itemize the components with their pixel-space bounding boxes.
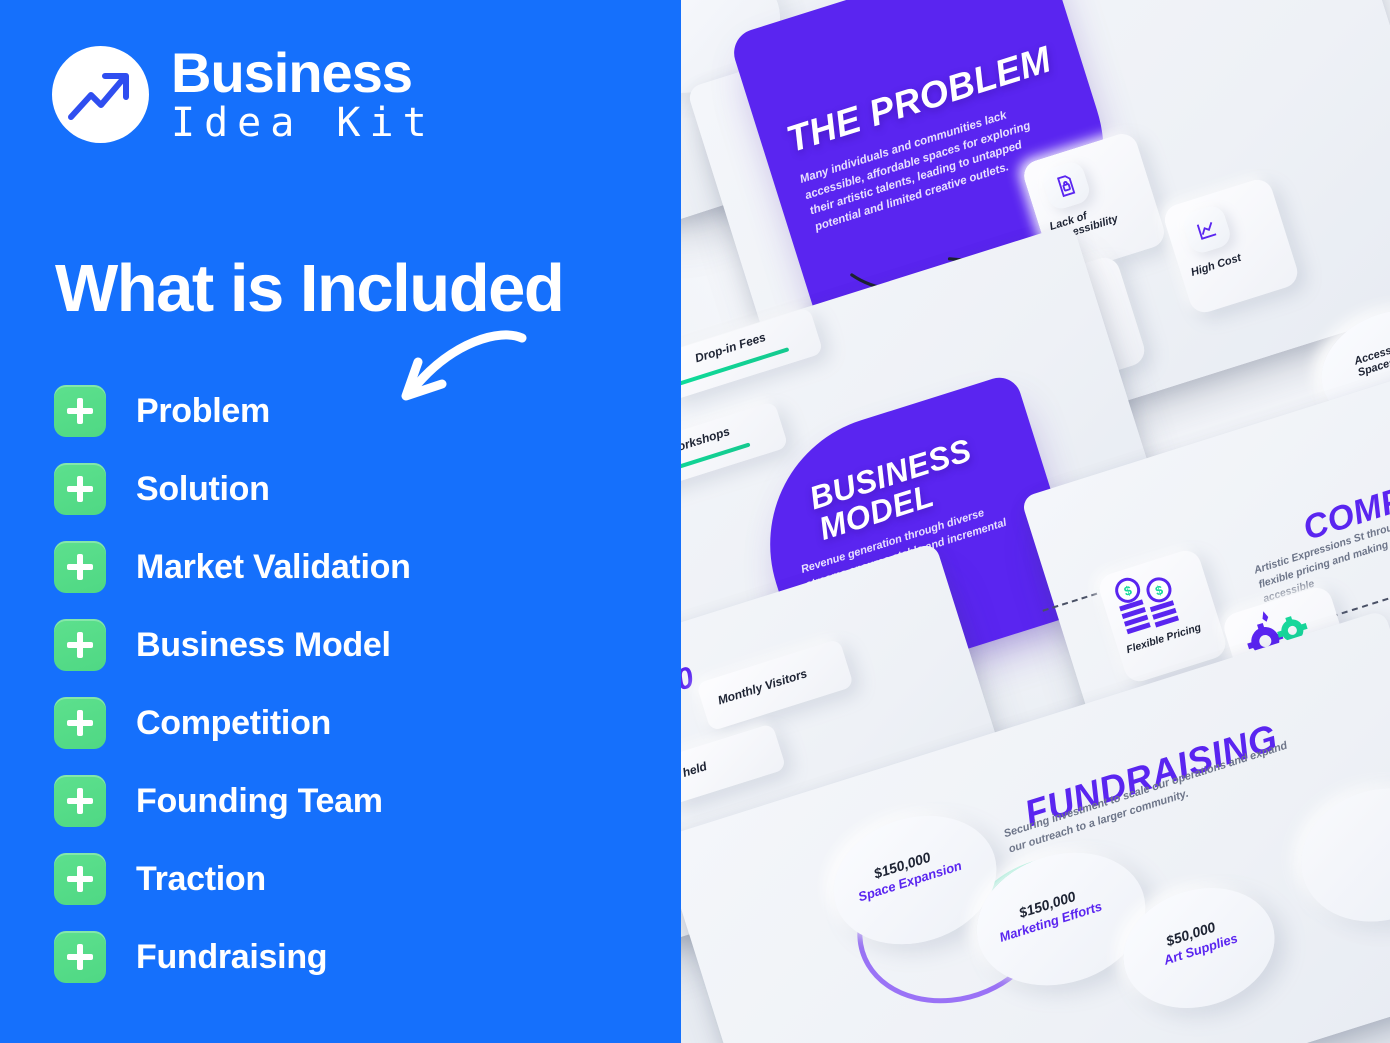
included-items-list: Problem Solution Market Validation Busin… bbox=[54, 385, 411, 983]
screenshot-root: THE PROBLEM Many individuals and communi… bbox=[0, 0, 1390, 1043]
list-item[interactable]: Market Validation bbox=[54, 541, 411, 593]
list-item-label: Founding Team bbox=[136, 782, 383, 821]
list-item[interactable]: Traction bbox=[54, 853, 411, 905]
plus-icon bbox=[54, 697, 106, 749]
list-item-label: Solution bbox=[136, 470, 270, 509]
list-item-label: Competition bbox=[136, 704, 331, 743]
list-item[interactable]: Problem bbox=[54, 385, 411, 437]
document-lock-icon bbox=[1040, 159, 1093, 212]
brand-name-line2: Idea Kit bbox=[171, 101, 436, 145]
list-item[interactable]: Business Model bbox=[54, 619, 411, 671]
list-item[interactable]: Competition bbox=[54, 697, 411, 749]
plus-icon bbox=[54, 463, 106, 515]
traction-card-1-label: held bbox=[681, 759, 709, 780]
page-title: What is Included bbox=[55, 250, 563, 327]
plus-icon bbox=[54, 853, 106, 905]
problem-bubble-label: Accessible Spaces bbox=[1353, 335, 1390, 379]
list-item[interactable]: Founding Team bbox=[54, 775, 411, 827]
list-item-label: Fundraising bbox=[136, 938, 327, 977]
growth-chart-arrow-icon bbox=[52, 46, 149, 143]
plus-icon bbox=[54, 619, 106, 671]
coins-stack-icon: $ $ bbox=[1109, 563, 1187, 638]
plus-icon bbox=[54, 775, 106, 827]
list-item-label: Market Validation bbox=[136, 548, 411, 587]
list-item-label: Problem bbox=[136, 392, 270, 431]
list-item[interactable]: Fundraising bbox=[54, 931, 411, 983]
brand-name-line1: Business bbox=[171, 44, 436, 101]
plus-icon bbox=[54, 385, 106, 437]
line-chart-icon bbox=[1181, 203, 1234, 256]
list-item-label: Traction bbox=[136, 860, 266, 899]
brand-logo[interactable]: Business Idea Kit bbox=[52, 44, 436, 145]
plus-icon bbox=[54, 931, 106, 983]
traction-card-0-label: Monthly Visitors bbox=[716, 666, 809, 707]
left-blue-panel: Business Idea Kit What is Included Probl… bbox=[0, 0, 681, 1043]
list-item-label: Business Model bbox=[136, 626, 391, 665]
plus-icon bbox=[54, 541, 106, 593]
list-item[interactable]: Solution bbox=[54, 463, 411, 515]
